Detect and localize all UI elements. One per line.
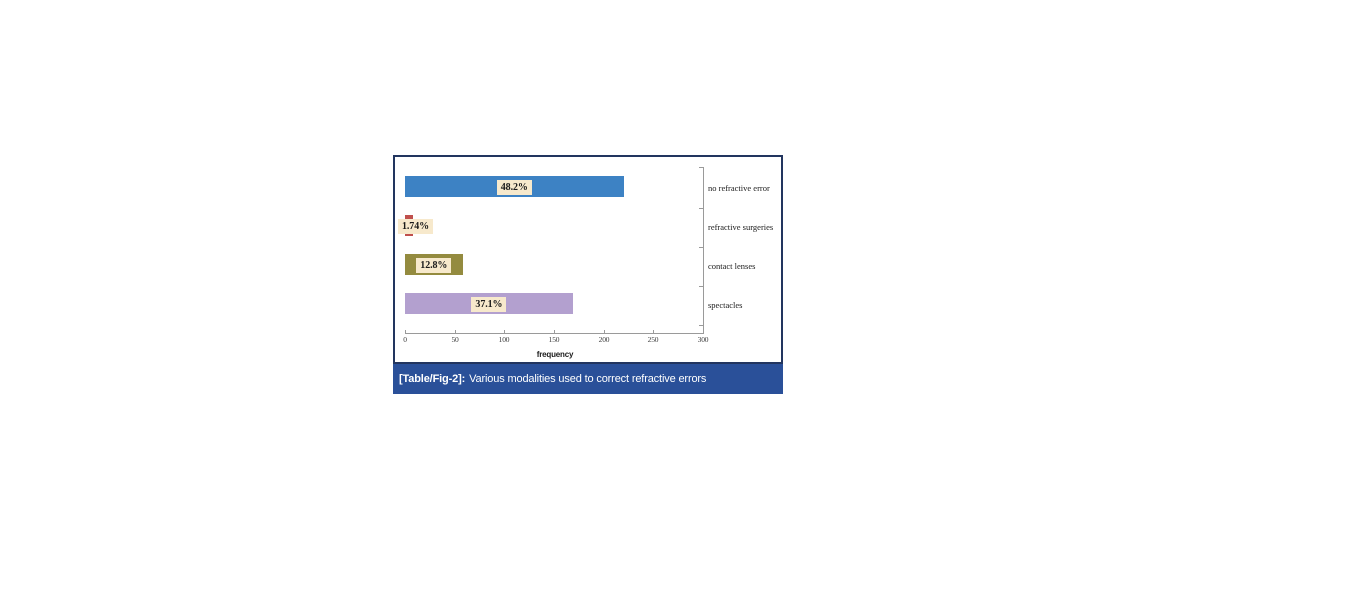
data-label-contact-lenses: 12.8%: [416, 258, 451, 273]
category-axis-tick: [699, 208, 704, 209]
category-label-spectacles: spectacles: [708, 300, 742, 310]
data-label-spectacles: 37.1%: [471, 297, 506, 312]
category-label-contact-lenses: contact lenses: [708, 261, 755, 271]
x-axis-title: frequency: [395, 350, 715, 359]
value-axis-tick: [653, 330, 654, 334]
category-axis-tick: [699, 167, 704, 168]
figure-caption-text: Various modalities used to correct refra…: [469, 373, 706, 385]
data-label-no-refractive-error: 48.2%: [497, 180, 532, 195]
value-axis-tick: [405, 330, 406, 334]
category-axis-tick: [699, 325, 704, 326]
value-axis-tick: [504, 330, 505, 334]
x-tick-label-200: 200: [599, 335, 610, 344]
value-axis-tick: [554, 330, 555, 334]
category-label-no-refractive-error: no refractive error: [708, 183, 770, 193]
figure-caption-bar: [Table/Fig-2]: Various modalities used t…: [393, 364, 783, 394]
x-tick-label-100: 100: [499, 335, 510, 344]
value-axis-tick: [703, 330, 704, 334]
data-label-refractive-surgeries: 1.74%: [398, 219, 433, 234]
category-axis-tick: [699, 247, 704, 248]
figure-caption-tag: [Table/Fig-2]:: [399, 373, 465, 385]
plot-area: 48.2% 1.74% 12.8% 37.1% no refractive er…: [395, 157, 781, 362]
x-tick-label-300: 300: [698, 335, 709, 344]
x-tick-label-150: 150: [549, 335, 560, 344]
x-tick-label-50: 50: [451, 335, 458, 344]
chart-panel: 48.2% 1.74% 12.8% 37.1% no refractive er…: [393, 155, 783, 364]
value-axis-tick: [455, 330, 456, 334]
category-label-refractive-surgeries: refractive surgeries: [708, 222, 773, 232]
category-axis-tick: [699, 286, 704, 287]
category-axis-line: [703, 167, 704, 333]
x-tick-label-0: 0: [403, 335, 407, 344]
x-tick-label-250: 250: [648, 335, 659, 344]
value-axis-tick: [604, 330, 605, 334]
figure-container: 48.2% 1.74% 12.8% 37.1% no refractive er…: [393, 155, 783, 394]
